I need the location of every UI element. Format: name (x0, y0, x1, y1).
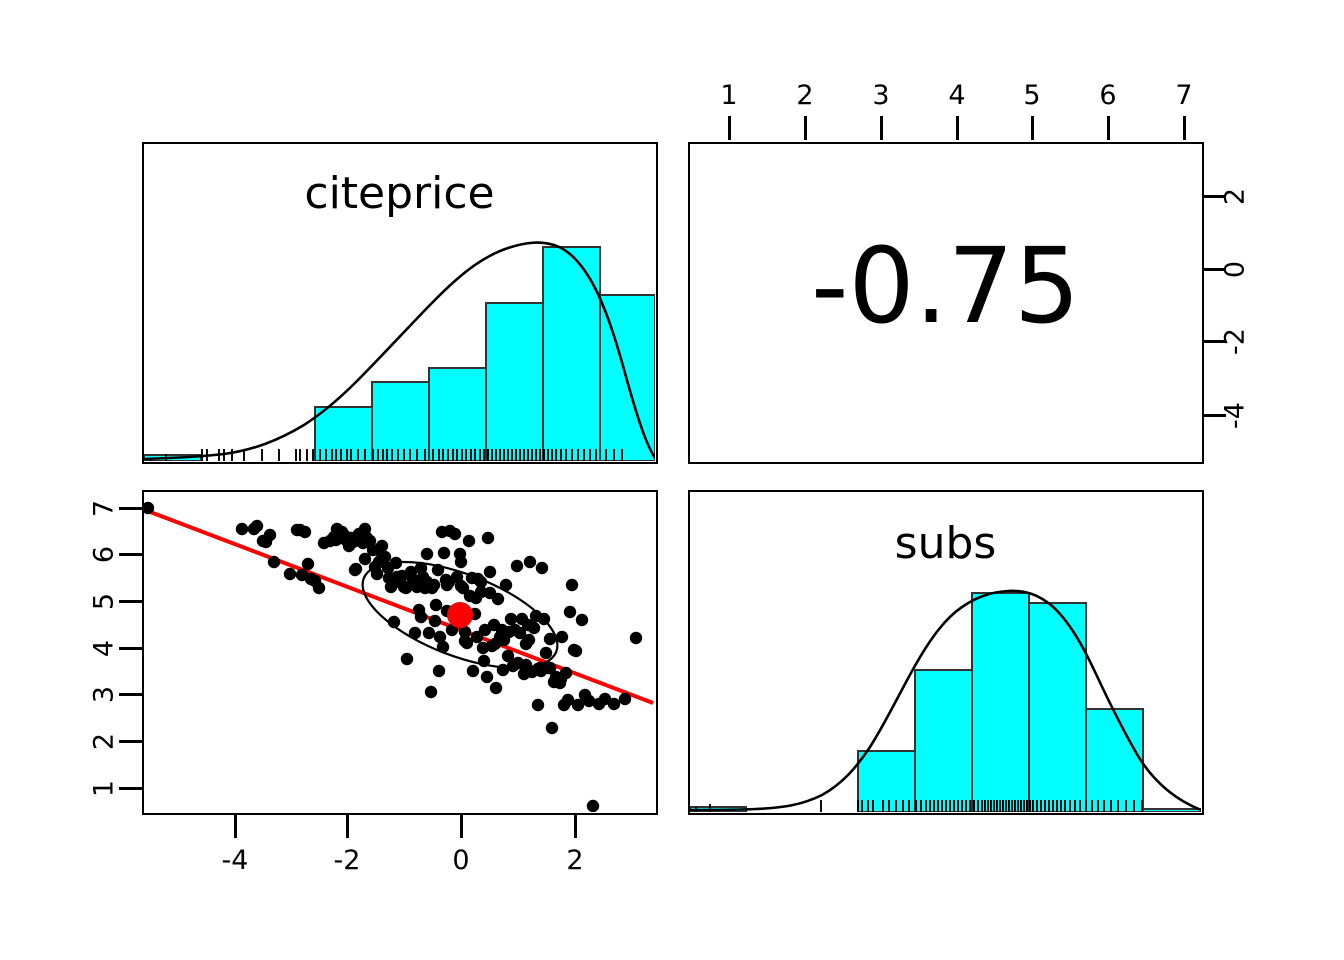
top-axis-label-6: 6 (1088, 82, 1128, 109)
scatter-y-label-1: 1 (91, 769, 118, 809)
scatter-y-label-4: 4 (91, 629, 118, 669)
correlation-value: -0.75 (690, 234, 1201, 338)
scatter-y-label-6: 6 (91, 535, 118, 575)
scatter-y-label-2: 2 (91, 722, 118, 762)
subs-hist-bars (690, 593, 1201, 812)
scatter-y-tick-4 (119, 647, 142, 650)
scatter-x-tick-0 (460, 815, 463, 838)
regression-line (145, 510, 653, 703)
panel-scatter (142, 490, 658, 815)
right-axis-tick-neg2 (1202, 340, 1226, 343)
panel-diagonal-subs: subs (688, 490, 1204, 815)
scatter-y-label-3: 3 (91, 675, 118, 715)
top-axis-tick-2 (804, 116, 807, 140)
scatter-y-tick-7 (119, 507, 142, 510)
top-axis-label-3: 3 (861, 82, 901, 109)
centroid-point (447, 602, 473, 628)
scatter-x-label-neg2: -2 (327, 847, 367, 874)
scatter-y-tick-1 (119, 787, 142, 790)
top-axis-label-1: 1 (709, 82, 749, 109)
scatter-x-label-neg4: -4 (215, 847, 255, 874)
scatter-x-tick-2 (574, 815, 577, 838)
scatter-x-tick-neg4 (234, 815, 237, 838)
right-axis-tick-neg4 (1202, 414, 1226, 417)
right-axis-tick-0 (1202, 268, 1226, 271)
top-axis-tick-5 (1031, 116, 1034, 140)
panel-title-citeprice: citeprice (144, 172, 655, 216)
scatter-x-label-2: 2 (555, 847, 595, 874)
scatter-x-tick-neg2 (346, 815, 349, 838)
top-axis-tick-3 (880, 116, 883, 140)
top-axis-tick-1 (728, 116, 731, 140)
panel-title-subs: subs (690, 522, 1201, 566)
top-axis-tick-6 (1107, 116, 1110, 140)
right-axis-tick-2 (1202, 195, 1226, 198)
scatter-x-label-0: 0 (441, 847, 481, 874)
top-axis-label-7: 7 (1164, 82, 1204, 109)
top-axis-tick-7 (1183, 116, 1186, 140)
panel-diagonal-citeprice: citeprice (142, 142, 658, 464)
scatter-y-tick-5 (119, 600, 142, 603)
top-axis-tick-4 (956, 116, 959, 140)
scatter-y-tick-6 (119, 553, 142, 556)
scatter-y-label-7: 7 (91, 489, 118, 529)
panel-correlation: -0.75 (688, 142, 1204, 464)
scatter-plot-svg (144, 492, 655, 812)
top-axis-label-5: 5 (1012, 82, 1052, 109)
scatter-y-label-5: 5 (91, 582, 118, 622)
citeprice-hist-bars (144, 247, 655, 461)
top-axis-label-2: 2 (785, 82, 825, 109)
scatter-y-tick-3 (119, 693, 142, 696)
figure-root: 1 2 3 4 5 6 7 2 0 -2 -4 (0, 0, 1344, 960)
top-axis-label-4: 4 (937, 82, 977, 109)
scatter-points (144, 502, 642, 812)
scatter-y-tick-2 (119, 740, 142, 743)
